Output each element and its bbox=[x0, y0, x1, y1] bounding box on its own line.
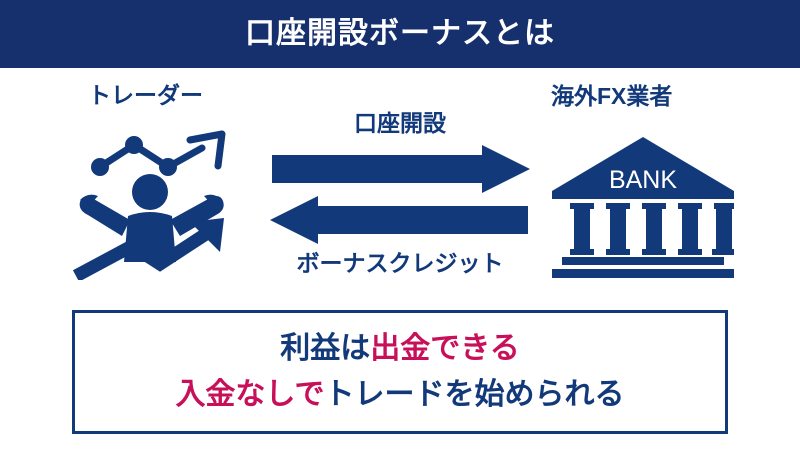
callout-line-2-highlight: 入金なしで bbox=[175, 378, 324, 411]
trader-label: トレーダー bbox=[88, 84, 203, 107]
page-title: 口座開設ボーナスとは bbox=[245, 19, 555, 49]
callout-box: 利益は出金できる 入金なしでトレードを始められる bbox=[72, 310, 728, 434]
arrow-right-block-icon bbox=[272, 145, 530, 193]
flow-label-account-opening: 口座開設 bbox=[268, 112, 532, 135]
broker-label: 海外FX業者 bbox=[551, 85, 672, 108]
callout-line-1: 利益は出金できる bbox=[280, 334, 519, 364]
trader-celebrating-icon bbox=[72, 122, 262, 280]
callout-line-2: 入金なしでトレードを始められる bbox=[175, 380, 624, 410]
header-bar: 口座開設ボーナスとは bbox=[0, 0, 800, 68]
callout-line-1-highlight: 出金できる bbox=[370, 332, 519, 365]
arrow-left-block-icon bbox=[270, 196, 528, 244]
bank-building-icon: BANK bbox=[548, 133, 738, 278]
callout-line-2-plain: トレードを始められる bbox=[325, 378, 625, 411]
bank-building-text: BANK bbox=[609, 166, 677, 194]
infographic-page: 口座開設ボーナスとは トレーダー bbox=[0, 0, 800, 450]
callout-line-1-plain: 利益は bbox=[280, 332, 370, 365]
flow-label-bonus-credit: ボーナスクレジット bbox=[258, 252, 542, 275]
